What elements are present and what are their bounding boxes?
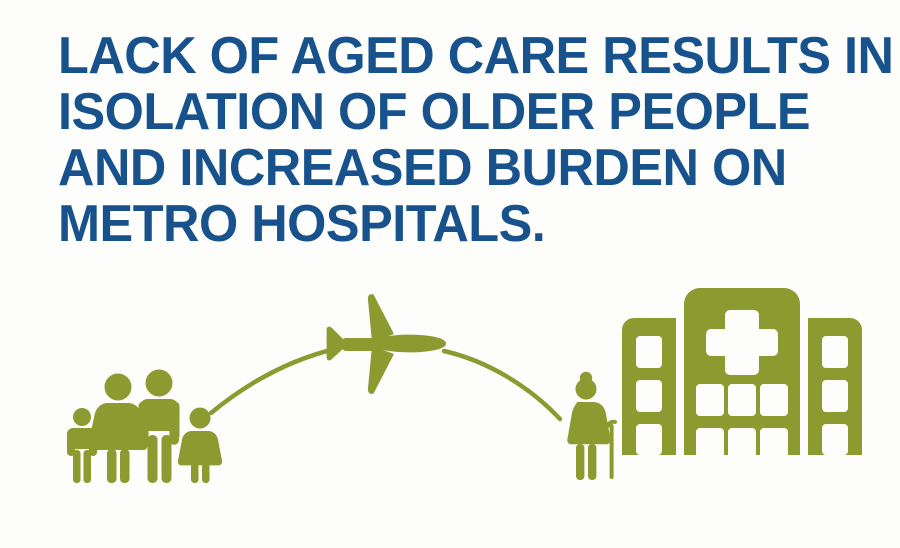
headline-line-4: METRO HOSPITALS. <box>58 196 834 252</box>
headline-line-2: ISOLATION OF OLDER PEOPLE <box>58 84 834 140</box>
headline-line-3: AND INCREASED BURDEN ON <box>58 140 834 196</box>
family-group-icon <box>62 365 222 485</box>
airplane-icon <box>322 290 452 405</box>
page-title: LACK OF AGED CARE RESULTS IN ISOLATION O… <box>58 28 858 252</box>
illustration-band <box>0 270 900 510</box>
headline-line-1: LACK OF AGED CARE RESULTS IN <box>58 28 834 84</box>
elderly-person-icon <box>564 370 624 482</box>
hospital-building-icon <box>618 288 866 488</box>
infographic-canvas: LACK OF AGED CARE RESULTS IN ISOLATION O… <box>0 0 900 548</box>
